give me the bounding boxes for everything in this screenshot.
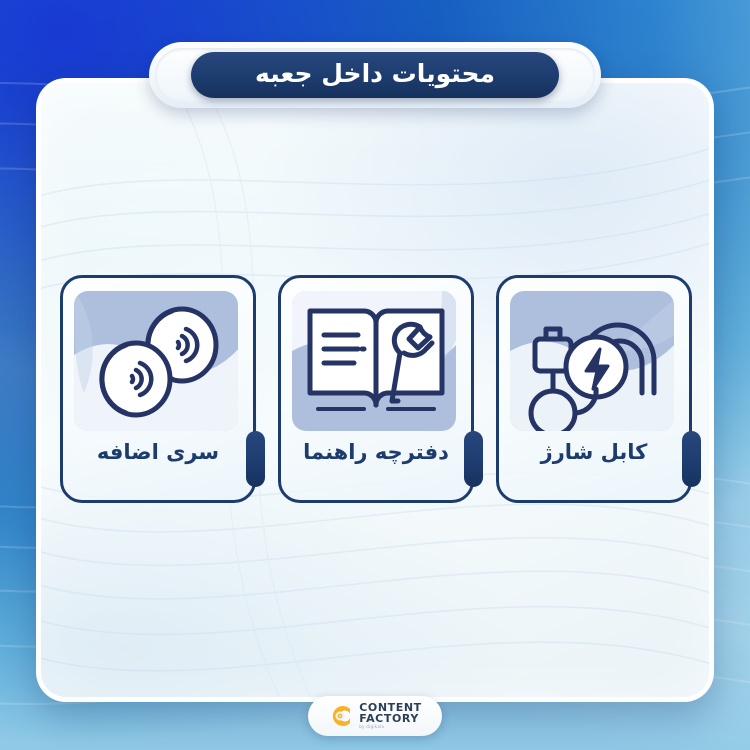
- content-factory-logo: CONTENT FACTORY by digikala: [308, 696, 442, 736]
- card-label: سری اضافه: [70, 441, 246, 464]
- charging-cable-icon: [510, 289, 678, 431]
- manual-book-icon: [292, 289, 460, 431]
- extra-eartips-icon: [74, 289, 242, 431]
- cards-row: کابل شارژ: [60, 275, 692, 503]
- icon-area: [74, 289, 242, 431]
- content-factory-c-icon: [328, 704, 352, 728]
- logo-text-block: CONTENT FACTORY by digikala: [359, 703, 422, 729]
- card-label: کابل شارژ: [506, 441, 682, 464]
- card-manual-book[interactable]: دفترچه راهنما: [278, 275, 474, 503]
- card-charging-cable[interactable]: کابل شارژ: [496, 275, 692, 503]
- card-tab-marker: [246, 431, 265, 487]
- infographic-canvas: محتویات داخل جعبه: [0, 0, 750, 750]
- card-extra-eartips[interactable]: سری اضافه: [60, 275, 256, 503]
- title-badge-pill: محتویات داخل جعبه: [191, 52, 559, 98]
- card-tab-marker: [464, 431, 483, 487]
- icon-area: [292, 289, 460, 431]
- card-label: دفترچه راهنما: [288, 441, 464, 464]
- logo-subtext: by digikala: [359, 725, 384, 729]
- page-title: محتویات داخل جعبه: [255, 61, 495, 90]
- logo-line-factory: FACTORY: [359, 714, 419, 725]
- icon-area: [510, 289, 678, 431]
- title-badge: محتویات داخل جعبه: [149, 42, 601, 108]
- card-tab-marker: [682, 431, 701, 487]
